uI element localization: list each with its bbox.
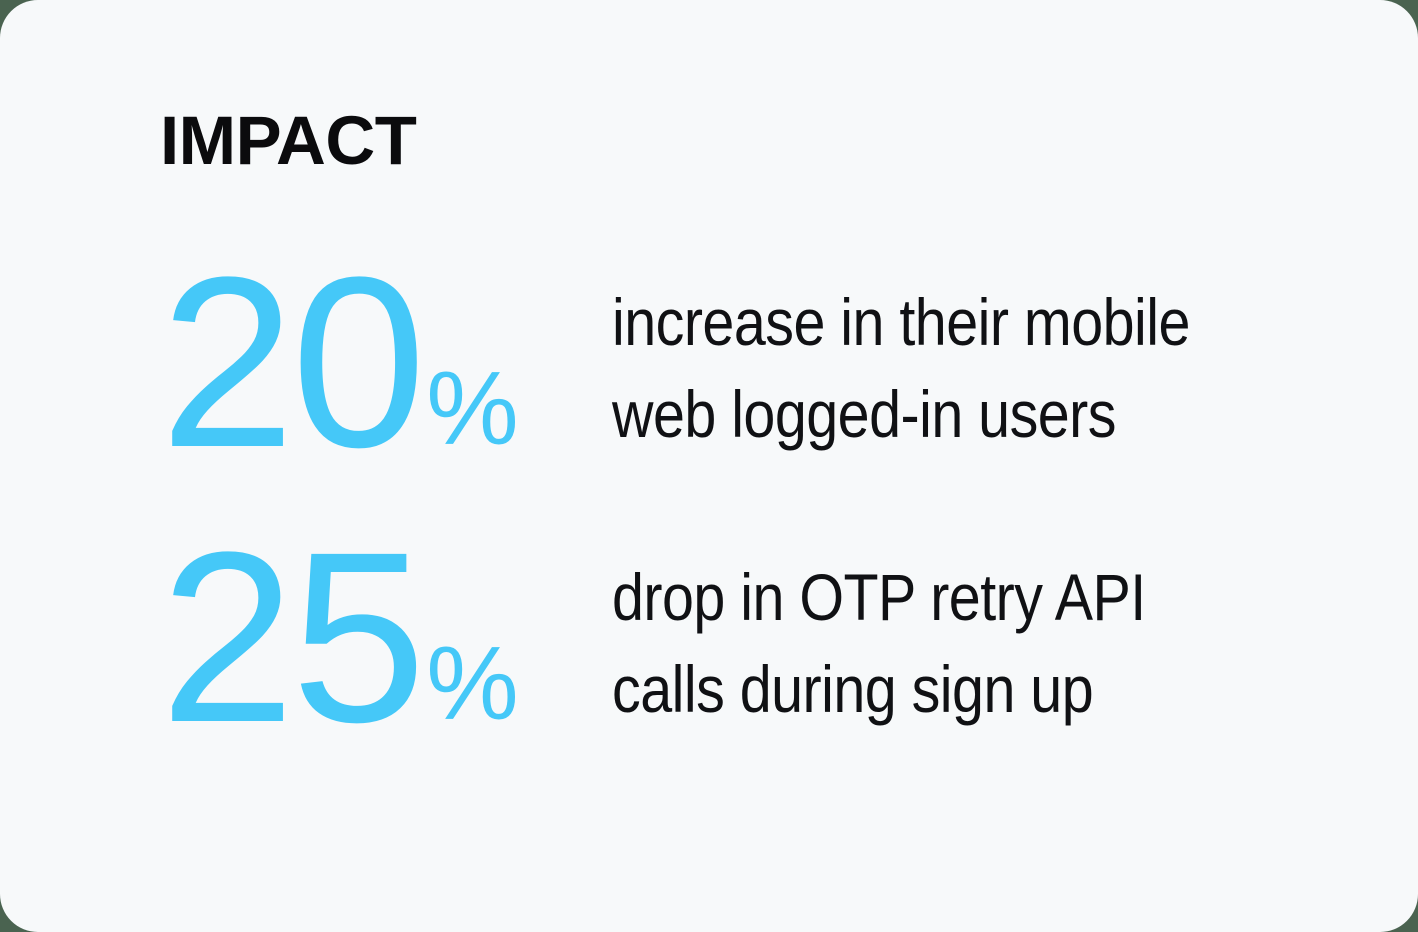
percent-symbol: % xyxy=(426,632,517,736)
percent-symbol: % xyxy=(426,357,517,461)
stat-figure: 25 % xyxy=(160,543,612,738)
stat-number: 20 xyxy=(160,268,422,458)
stat-row: 20 % increase in their mobile web logged… xyxy=(160,268,1340,463)
stat-description-line: drop in OTP retry API xyxy=(612,551,1245,643)
stat-figure: 20 % xyxy=(160,268,612,463)
stat-description-line: web logged-in users xyxy=(612,368,1245,460)
page-title: IMPACT xyxy=(160,106,416,175)
stat-row: 25 % drop in OTP retry API calls during … xyxy=(160,543,1340,738)
stat-description: drop in OTP retry API calls during sign … xyxy=(612,543,1245,735)
stat-description-line: increase in their mobile xyxy=(612,276,1245,368)
stat-description: increase in their mobile web logged-in u… xyxy=(612,268,1245,460)
stat-number: 25 xyxy=(160,543,422,733)
impact-card: IMPACT 20 % increase in their mobile web… xyxy=(0,0,1418,932)
stat-description-line: calls during sign up xyxy=(612,643,1245,735)
